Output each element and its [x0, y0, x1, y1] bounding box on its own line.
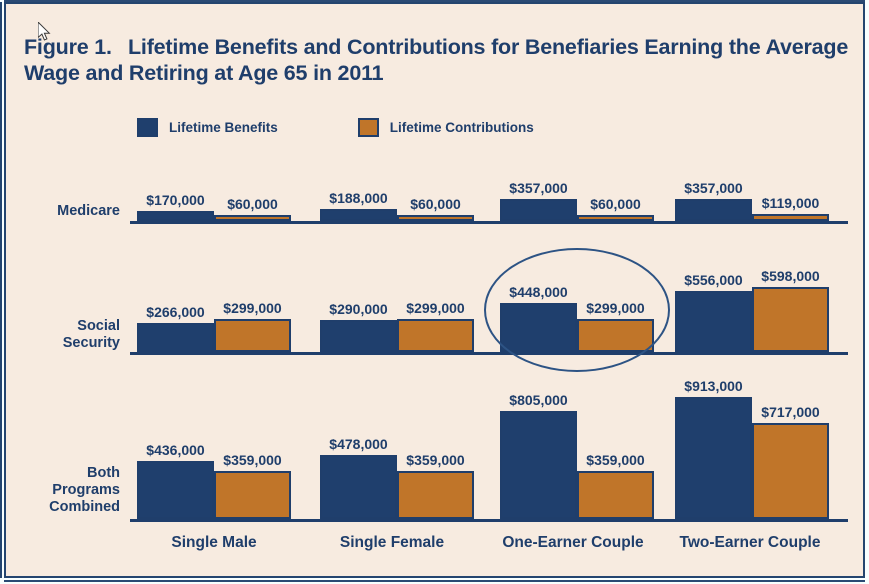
bar-value-both-single-female-contributions: $359,000 [383, 452, 488, 468]
bar-value-social-single-male-contributions: $299,000 [200, 300, 305, 316]
bar-social-single-male-benefits [137, 323, 214, 352]
panel-label-both-line-1: Both [0, 465, 120, 482]
bar-both-one-earner-couple-contributions [577, 471, 654, 519]
bar-social-single-female-contributions [397, 319, 474, 352]
legend-label-benefits: Lifetime Benefits [169, 120, 278, 135]
panel-label-both-line-2: Programs [0, 482, 120, 499]
bar-value-both-one-earner-couple-benefits: $805,000 [486, 392, 591, 408]
bar-value-medicare-two-earner-couple-contributions: $119,000 [738, 195, 843, 211]
bar-value-social-one-earner-couple-benefits: $448,000 [486, 284, 591, 300]
x-axis-label-single-female: Single Female [302, 534, 482, 552]
bar-medicare-single-female-contributions [397, 215, 474, 221]
bar-both-two-earner-couple-contributions [752, 423, 829, 519]
legend-item-contributions[interactable]: Lifetime Contributions [358, 118, 534, 137]
panel-label-social-line-1: Social [0, 318, 120, 335]
legend-item-benefits[interactable]: Lifetime Benefits [137, 118, 278, 137]
bar-value-social-one-earner-couple-contributions: $299,000 [563, 300, 668, 316]
bar-value-medicare-single-female-contributions: $60,000 [383, 196, 488, 212]
panel-label-both-programs: Both Programs Combined [0, 465, 120, 516]
bar-value-medicare-two-earner-couple-benefits: $357,000 [661, 180, 766, 196]
bar-value-social-two-earner-couple-contributions: $598,000 [738, 268, 843, 284]
bar-value-social-single-female-contributions: $299,000 [383, 300, 488, 316]
baseline-social-security [130, 352, 848, 355]
x-axis-label-single-male: Single Male [124, 534, 304, 552]
mouse-pointer-icon [38, 22, 52, 42]
bar-medicare-single-male-benefits [137, 211, 214, 221]
bar-social-two-earner-couple-benefits [675, 291, 752, 352]
legend-label-contributions: Lifetime Contributions [390, 120, 534, 135]
bar-value-medicare-single-male-contributions: $60,000 [200, 196, 305, 212]
panel-label-medicare-line-1: Medicare [0, 203, 120, 220]
bar-value-both-two-earner-couple-contributions: $717,000 [738, 404, 843, 420]
figure-title: Figure 1.Lifetime Benefits and Contribut… [24, 34, 850, 86]
legend-swatch-contributions-icon [358, 118, 379, 137]
bar-value-both-two-earner-couple-benefits: $913,000 [661, 378, 766, 394]
bar-both-single-female-contributions [397, 471, 474, 519]
x-axis-label-one-earner-couple: One-Earner Couple [483, 534, 663, 552]
bar-social-two-earner-couple-contributions [752, 287, 829, 352]
bar-social-one-earner-couple-contributions [577, 319, 654, 352]
panel-label-social-line-2: Security [0, 335, 120, 352]
panel-label-medicare: Medicare [0, 203, 120, 220]
bar-value-both-single-male-contributions: $359,000 [200, 452, 305, 468]
bar-value-medicare-one-earner-couple-benefits: $357,000 [486, 180, 591, 196]
bar-value-both-single-female-benefits: $478,000 [306, 436, 411, 452]
bar-medicare-single-male-contributions [214, 215, 291, 221]
bar-value-medicare-one-earner-couple-contributions: $60,000 [563, 196, 668, 212]
figure-title-text: Lifetime Benefits and Contributions for … [24, 35, 848, 85]
bar-social-single-male-contributions [214, 319, 291, 352]
chart-canvas: Figure 1.Lifetime Benefits and Contribut… [0, 0, 869, 584]
x-axis-label-two-earner-couple: Two-Earner Couple [660, 534, 840, 552]
panel-label-both-line-3: Combined [0, 499, 120, 516]
baseline-both-programs [130, 519, 848, 522]
bar-medicare-two-earner-couple-contributions [752, 214, 829, 221]
bar-both-single-male-benefits [137, 461, 214, 519]
legend-swatch-benefits-icon [137, 118, 158, 137]
bar-social-single-female-benefits [320, 320, 397, 352]
bar-medicare-one-earner-couple-contributions [577, 215, 654, 221]
chart-legend: Lifetime Benefits Lifetime Contributions [137, 118, 534, 137]
bar-both-single-male-contributions [214, 471, 291, 519]
figure-screenshot: Figure 1.Lifetime Benefits and Contribut… [0, 0, 869, 584]
baseline-medicare [130, 221, 848, 224]
bar-value-both-one-earner-couple-contributions: $359,000 [563, 452, 668, 468]
panel-label-social-security: Social Security [0, 318, 120, 352]
